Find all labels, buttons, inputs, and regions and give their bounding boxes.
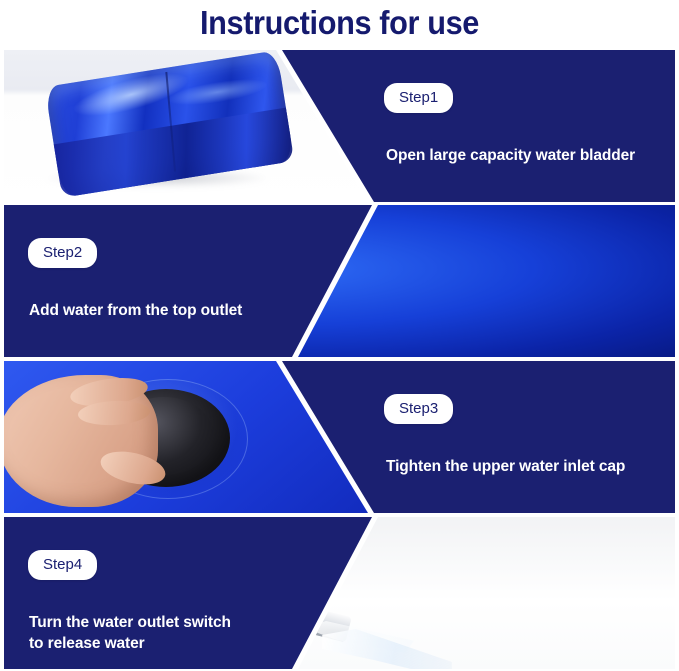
step-4-badge: Step4 [28,550,97,580]
step-3-description: Tighten the upper water inlet cap [386,456,675,477]
step-4-text-block: Step4 Turn the water outlet switch to re… [24,517,334,669]
step-2-description: Add water from the top outlet [29,300,329,321]
step-3-text-block: Step3 Tighten the upper water inlet cap [374,361,674,513]
instructions-infographic: Instructions for use Step1 Open large ca… [0,0,679,671]
step-1-text-block: Step1 Open large capacity water bladder [374,50,674,202]
step-1-description: Open large capacity water bladder [386,145,675,166]
page-title: Instructions for use [24,0,655,46]
step-row-3: Step3 Tighten the upper water inlet cap [4,361,675,513]
step-row-1: Step1 Open large capacity water bladder [4,50,675,202]
step-4-description: Turn the water outlet switch to release … [29,612,329,654]
step-2-text-block: Step2 Add water from the top outlet [24,205,334,357]
step-row-4: Step4 Turn the water outlet switch to re… [4,517,675,669]
step-row-2: Step2 Add water from the top outlet [4,205,675,357]
step-3-badge: Step3 [384,394,453,424]
step-2-badge: Step2 [28,238,97,268]
step-1-badge: Step1 [384,83,453,113]
